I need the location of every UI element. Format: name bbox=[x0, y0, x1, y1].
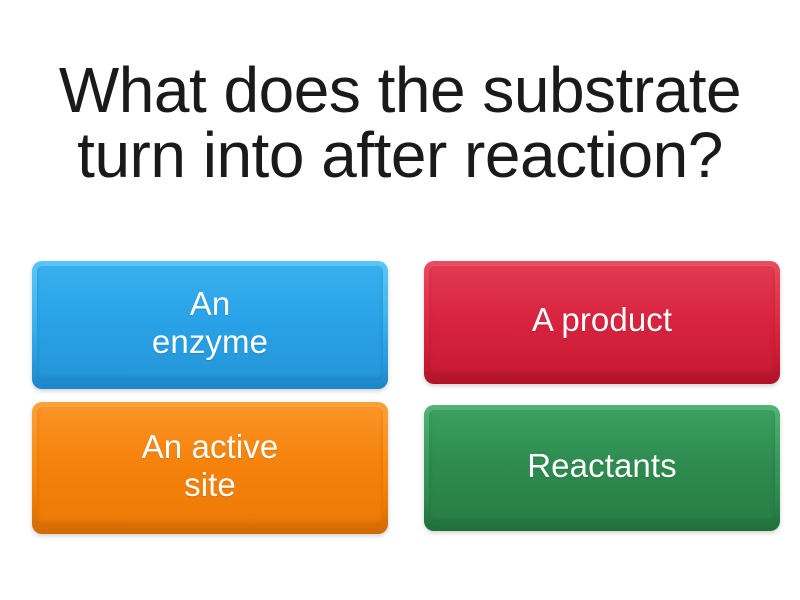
answer-option-an-active-site[interactable]: An active site bbox=[32, 402, 388, 534]
answer-option-label: An active site bbox=[37, 406, 383, 525]
answer-option-reactants[interactable]: Reactants bbox=[424, 405, 780, 531]
answer-option-label: A product bbox=[429, 265, 775, 375]
answer-option-an-enzyme[interactable]: An enzyme bbox=[32, 261, 388, 389]
answer-option-label: An enzyme bbox=[37, 265, 383, 380]
answer-option-a-product[interactable]: A product bbox=[424, 261, 780, 384]
answer-options-grid: An enzyme A product An active site React… bbox=[0, 0, 800, 600]
quiz-screen: What does the substrate turn into after … bbox=[0, 0, 800, 600]
answer-option-label: Reactants bbox=[429, 409, 775, 522]
